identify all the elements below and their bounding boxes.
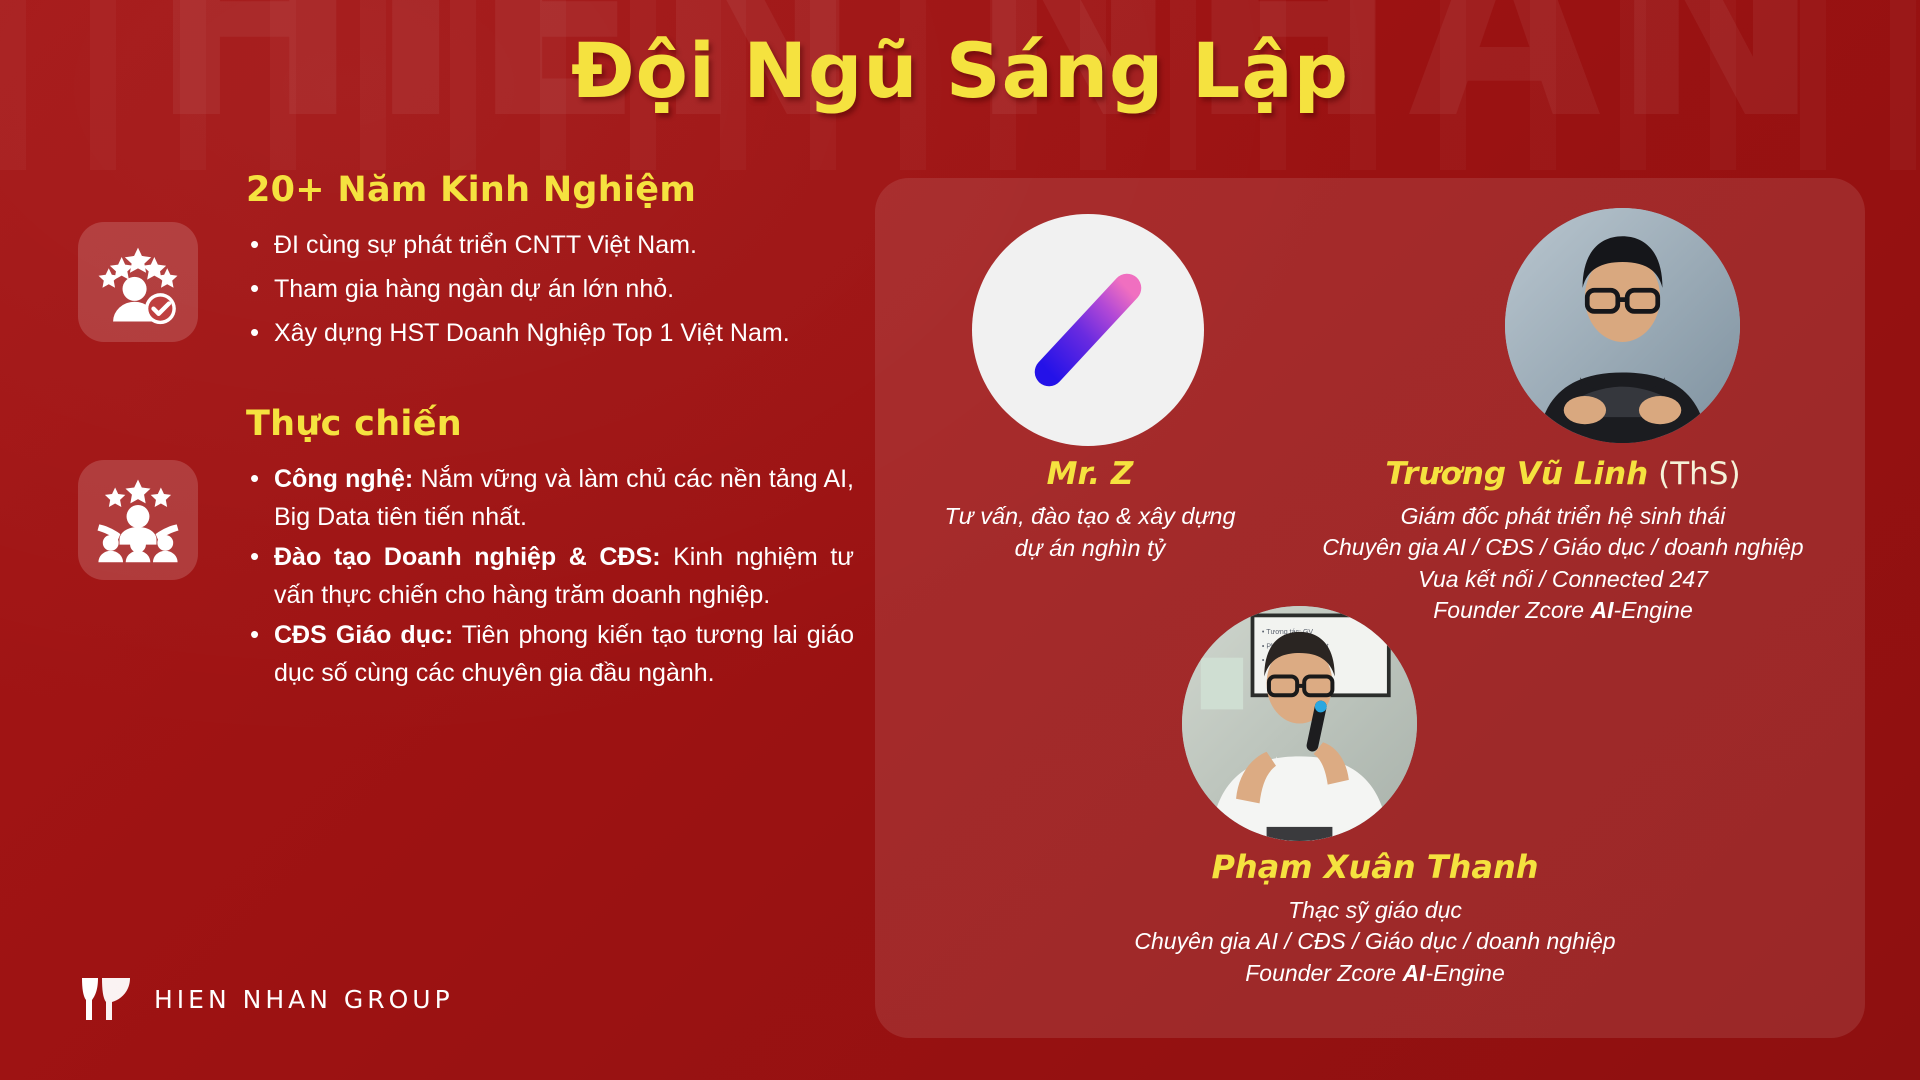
portrait-truong-vu-linh — [1505, 208, 1740, 443]
experience-bullet-list: ĐI cùng sự phát triển CNTT Việt Nam. Tha… — [246, 226, 854, 352]
experience-block: 20+ Năm Kinh Nghiệm ĐI cùng sự phát triể… — [0, 170, 880, 352]
founder-role-line: Giám đốc phát triển hệ sinh thái — [1273, 501, 1853, 532]
list-item: ĐI cùng sự phát triển CNTT Việt Nam. — [246, 226, 854, 264]
founder-role-line-founder: Founder Zcore AI-Engine — [1075, 958, 1675, 989]
founder-role-line-founder: Founder Zcore AI-Engine — [1273, 595, 1853, 626]
list-item: CĐS Giáo dục: Tiên phong kiến tạo tương … — [246, 616, 854, 692]
founder-card-truong-vu-linh: Trương Vũ Linh (ThS) Giám đốc phát triển… — [1273, 456, 1853, 626]
page-title: Đội Ngũ Sáng Lập — [0, 26, 1920, 115]
hien-nhan-mark-icon — [80, 976, 132, 1022]
list-item: Xây dựng HST Doanh Nghiệp Top 1 Việt Nam… — [246, 314, 854, 352]
block-heading: Thực chiến — [246, 404, 880, 444]
portrait-pham-xuan-thanh: • Tương tác: GV • Phụ huynh giám sát • D… — [1182, 606, 1417, 841]
list-item: Tham gia hàng ngàn dự án lớn nhỏ. — [246, 270, 854, 308]
list-item: Công nghệ: Nắm vững và làm chủ các nền t… — [246, 460, 854, 536]
founder-name: Phạm Xuân Thanh — [1075, 848, 1675, 886]
list-item: Đào tạo Doanh nghiệp & CĐS: Kinh nghiệm … — [246, 538, 854, 614]
founders-panel: Mr. Z Tư vấn, đào tạo & xây dựng dự án n… — [875, 178, 1865, 1038]
founder-role-line: Chuyên gia AI / CĐS / Giáo dục / doanh n… — [1075, 926, 1675, 957]
founder-role-line: Chuyên gia AI / CĐS / Giáo dục / doanh n… — [1273, 532, 1853, 563]
five-star-person-verified-icon — [78, 222, 198, 342]
footer-brand: HIEN NHAN GROUP — [80, 976, 454, 1022]
founder-role-line: Thạc sỹ giáo dục — [1075, 895, 1675, 926]
founder-role-line: Vua kết nối / Connected 247 — [1273, 564, 1853, 595]
slide-canvas: HIEN NHAN Đội Ngũ Sáng Lập — [0, 0, 1920, 1080]
block-heading: 20+ Năm Kinh Nghiệm — [246, 170, 880, 210]
zcore-z-logo — [972, 214, 1204, 446]
practical-bullet-list: Công nghệ: Nắm vững và làm chủ các nền t… — [246, 460, 854, 692]
founder-card-mr-z: Mr. Z Tư vấn, đào tạo & xây dựng dự án n… — [905, 456, 1275, 565]
founder-role-line: dự án nghìn tỷ — [905, 533, 1275, 565]
three-star-team-leader-icon — [78, 460, 198, 580]
founder-name: Mr. Z — [905, 456, 1275, 492]
founder-role-line: Tư vấn, đào tạo & xây dựng — [905, 501, 1275, 533]
founder-name: Trương Vũ Linh (ThS) — [1273, 456, 1853, 492]
brand-text: HIEN NHAN GROUP — [154, 985, 454, 1014]
founder-card-pham-xuan-thanh: Phạm Xuân Thanh Thạc sỹ giáo dục Chuyên … — [1075, 848, 1675, 989]
practical-block: Thực chiến Công nghệ: Nắm vững và làm ch… — [0, 404, 880, 692]
left-content-column: 20+ Năm Kinh Nghiệm ĐI cùng sự phát triể… — [0, 170, 880, 726]
